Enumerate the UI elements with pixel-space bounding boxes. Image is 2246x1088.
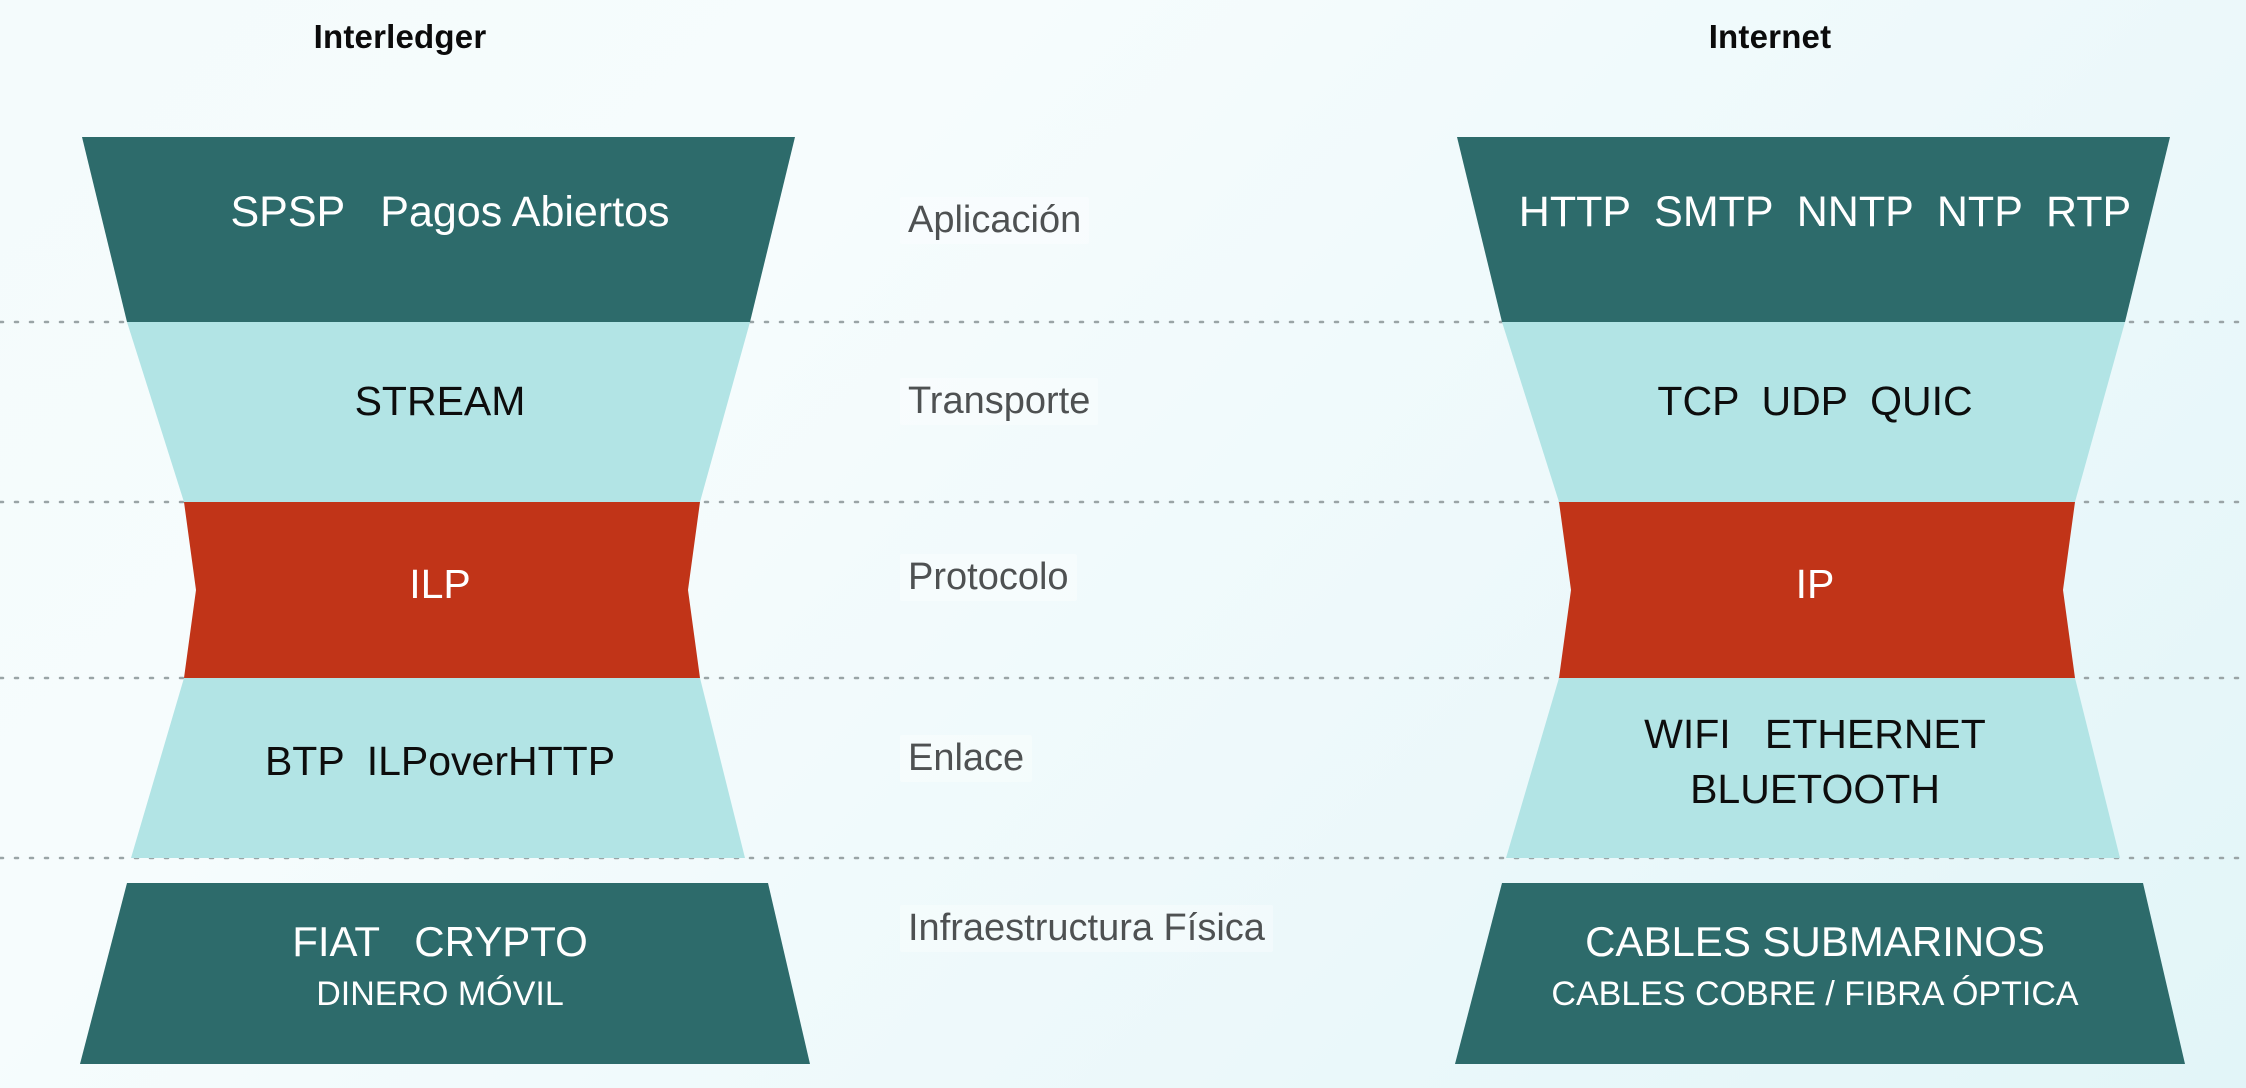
layer-shape-aplicacion-left [82, 137, 795, 322]
layer-shape-enlace-left [131, 678, 745, 858]
stack-interledger [80, 137, 810, 1064]
stack-internet [1455, 137, 2185, 1064]
layer-shape-infraestructura-right [1455, 883, 2185, 1064]
layer-label-aplicacion: Aplicación [900, 197, 1089, 244]
layer-shape-protocolo-right [1559, 502, 2075, 678]
layer-shape-transporte-right [1502, 322, 2125, 502]
layer-label-infraestructura-fisica: Infraestructura Física [900, 905, 1273, 952]
layer-label-transporte: Transporte [900, 378, 1098, 425]
layer-shape-infraestructura-left [80, 883, 810, 1064]
column-title-interledger: Interledger [160, 18, 640, 56]
diagram-canvas: Interledger Internet Aplicación Transpor… [0, 0, 2246, 1088]
layer-shape-enlace-right [1506, 678, 2120, 858]
layer-shape-transporte-left [127, 322, 750, 502]
column-title-internet: Internet [1530, 18, 2010, 56]
layer-shape-aplicacion-right [1457, 137, 2170, 322]
layer-label-enlace: Enlace [900, 735, 1032, 782]
layer-shape-protocolo-left [184, 502, 700, 678]
layer-label-protocolo: Protocolo [900, 554, 1077, 601]
